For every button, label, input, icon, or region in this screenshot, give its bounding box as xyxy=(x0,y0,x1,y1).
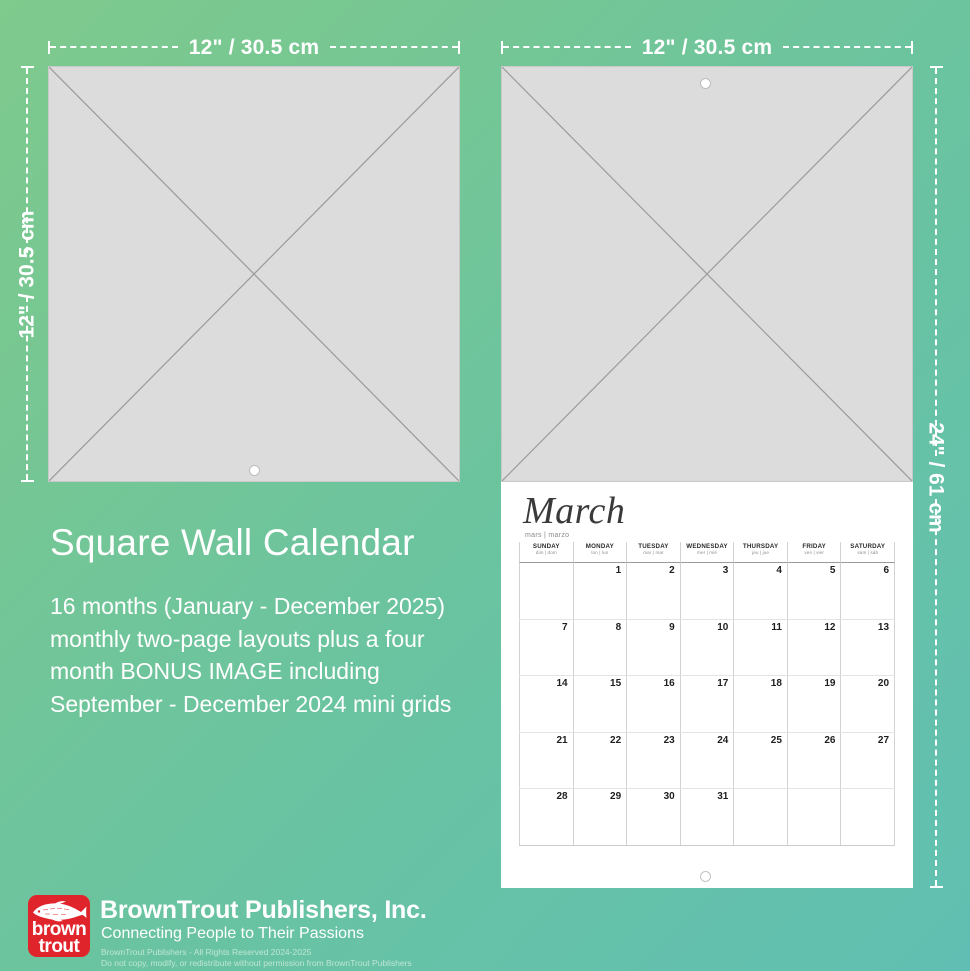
calendar-week-row: 1 2 3 4 5 6 xyxy=(519,563,895,620)
day-number: 23 xyxy=(664,735,675,746)
publisher-name: BrownTrout Publishers, Inc. xyxy=(100,898,427,923)
calendar-day-cell[interactable]: 26 xyxy=(787,733,841,789)
dimension-right-width-label: 12" / 30.5 cm xyxy=(631,37,783,58)
placeholder-cross-icon xyxy=(502,67,912,481)
calendar-day-cell[interactable]: 16 xyxy=(626,676,680,732)
day-number: 17 xyxy=(717,678,728,689)
dim-cap-end xyxy=(911,41,913,54)
day-number: 3 xyxy=(723,565,729,576)
weekday-sub: mar | mar xyxy=(627,551,680,556)
right-cover-image-placeholder xyxy=(501,66,913,482)
weekday-sub: ven | vier xyxy=(788,551,841,556)
calendar-week-row: 21 22 23 24 25 26 27 xyxy=(519,733,895,790)
calendar-day-cell[interactable]: 1 xyxy=(573,563,627,619)
calendar-day-cell[interactable]: 15 xyxy=(573,676,627,732)
dim-dash-right xyxy=(330,46,458,48)
dimension-left-height: 12" / 30.5 cm xyxy=(20,66,34,482)
weekday-sub: sam | sáb xyxy=(841,551,894,556)
day-number: 25 xyxy=(771,735,782,746)
calendar-month-title: March xyxy=(523,492,625,530)
calendar-day-cell[interactable]: 30 xyxy=(626,789,680,845)
placeholder-cross-icon xyxy=(49,67,459,481)
day-number: 24 xyxy=(717,735,728,746)
description-line-1: 16 months (January - December 2025) xyxy=(50,590,451,623)
calendar-day-cell[interactable]: 22 xyxy=(573,733,627,789)
calendar-page-bottom-hole-punch xyxy=(700,871,711,882)
calendar-day-cell[interactable]: 9 xyxy=(626,620,680,676)
weekday-header-saturday: SATURDAY sam | sáb xyxy=(840,542,895,563)
weekday-sub: dim | dom xyxy=(520,551,573,556)
dimension-right-width: 12" / 30.5 cm xyxy=(501,40,913,54)
calendar-day-cell[interactable]: 5 xyxy=(787,563,841,619)
calendar-day-cell[interactable]: 8 xyxy=(573,620,627,676)
calendar-day-cell[interactable]: 17 xyxy=(680,676,734,732)
calendar-week-row: 14 15 16 17 18 19 20 xyxy=(519,676,895,733)
weekday-header-wednesday: WEDNESDAY mer | mié xyxy=(680,542,734,563)
calendar-month-subtitle: mars | marzo xyxy=(525,532,569,539)
dim-dash-left xyxy=(503,46,631,48)
product-headline: Square Wall Calendar xyxy=(50,524,415,561)
calendar-day-cell[interactable]: 10 xyxy=(680,620,734,676)
calendar-day-cell[interactable]: 29 xyxy=(573,789,627,845)
calendar-week-row: 28 29 30 31 xyxy=(519,789,895,846)
weekday-header-tuesday: TUESDAY mar | mar xyxy=(626,542,680,563)
calendar-day-cell[interactable]: 24 xyxy=(680,733,734,789)
day-number: 6 xyxy=(883,565,889,576)
weekday-header-friday: FRIDAY ven | vier xyxy=(787,542,841,563)
calendar-day-cell[interactable]: 28 xyxy=(519,789,573,845)
day-number: 4 xyxy=(776,565,782,576)
weekday-header-sunday: SUNDAY dim | dom xyxy=(519,542,573,563)
calendar-day-cell[interactable]: 13 xyxy=(840,620,895,676)
day-number: 7 xyxy=(562,622,568,633)
calendar-day-cell[interactable]: 20 xyxy=(840,676,895,732)
calendar-day-cell[interactable]: 4 xyxy=(733,563,787,619)
dimension-right-height-label: 24" / 61 cm xyxy=(915,422,958,532)
calendar-day-cell[interactable]: 7 xyxy=(519,620,573,676)
description-line-3: month BONUS IMAGE including xyxy=(50,655,451,688)
calendar-day-cell[interactable]: 21 xyxy=(519,733,573,789)
day-number: 29 xyxy=(610,791,621,802)
calendar-grid-page: March mars | marzo SUNDAY dim | dom MOND… xyxy=(501,482,913,888)
footer-branding: brown trout BrownTrout Publishers, Inc. … xyxy=(0,895,970,971)
weekday-sub: jeu | jue xyxy=(734,551,787,556)
calendar-day-cell[interactable]: 18 xyxy=(733,676,787,732)
calendar-day-cell[interactable]: 19 xyxy=(787,676,841,732)
day-number: 13 xyxy=(878,622,889,633)
dim-dash-top xyxy=(935,68,937,456)
weekday-sub: mer | mié xyxy=(681,551,734,556)
day-number: 18 xyxy=(771,678,782,689)
calendar-day-cell[interactable]: 31 xyxy=(680,789,734,845)
dimension-right-height: 24" / 61 cm xyxy=(929,66,943,888)
calendar-day-cell[interactable]: 2 xyxy=(626,563,680,619)
day-number: 15 xyxy=(610,678,621,689)
calendar-day-cell[interactable] xyxy=(733,789,787,845)
product-spec-sheet: 12" / 30.5 cm 12" / 30.5 cm 12" / 30.5 c… xyxy=(0,0,970,971)
left-cover-image-placeholder xyxy=(48,66,460,482)
calendar-day-cell[interactable] xyxy=(787,789,841,845)
dim-cap-bottom xyxy=(930,886,943,888)
day-number: 1 xyxy=(616,565,622,576)
day-number: 19 xyxy=(824,678,835,689)
dim-cap-bottom xyxy=(21,480,34,482)
calendar-weeks: 1 2 3 4 5 6 7 8 9 10 11 12 13 14 xyxy=(519,563,895,846)
copyright-line-2: Do not copy, modify, or redistribute wit… xyxy=(101,958,412,969)
calendar-day-cell[interactable]: 6 xyxy=(840,563,895,619)
day-number: 16 xyxy=(664,678,675,689)
weekday-sub: lun | lun xyxy=(574,551,627,556)
dimension-left-height-label: 12" / 30.5 cm xyxy=(6,210,49,338)
dimension-left-width: 12" / 30.5 cm xyxy=(48,40,460,54)
calendar-day-cell[interactable]: 12 xyxy=(787,620,841,676)
browntrout-logo[interactable]: brown trout xyxy=(28,895,90,957)
calendar-day-cell[interactable]: 27 xyxy=(840,733,895,789)
day-number: 30 xyxy=(664,791,675,802)
calendar-week-row: 7 8 9 10 11 12 13 xyxy=(519,620,895,677)
day-number: 5 xyxy=(830,565,836,576)
day-number: 28 xyxy=(556,791,567,802)
day-number: 8 xyxy=(616,622,622,633)
day-number: 11 xyxy=(771,622,782,633)
calendar-grid: SUNDAY dim | dom MONDAY lun | lun TUESDA… xyxy=(519,542,895,846)
day-number: 20 xyxy=(878,678,889,689)
calendar-day-cell[interactable]: 25 xyxy=(733,733,787,789)
day-number: 9 xyxy=(669,622,675,633)
weekday-header-monday: MONDAY lun | lun xyxy=(573,542,627,563)
day-number: 21 xyxy=(556,735,567,746)
day-number: 26 xyxy=(824,735,835,746)
right-panel-top-hole-punch xyxy=(700,78,711,89)
dim-dash-bottom xyxy=(935,499,937,887)
calendar-weekday-header: SUNDAY dim | dom MONDAY lun | lun TUESDA… xyxy=(519,542,895,563)
weekday-header-thursday: THURSDAY jeu | jue xyxy=(733,542,787,563)
left-panel-hole-punch xyxy=(249,465,260,476)
dim-dash-right xyxy=(783,46,911,48)
calendar-day-cell[interactable] xyxy=(840,789,895,845)
dimension-left-width-label: 12" / 30.5 cm xyxy=(178,37,330,58)
description-line-4: September - December 2024 mini grids xyxy=(50,688,451,721)
description-line-2: monthly two-page layouts plus a four xyxy=(50,623,451,656)
copyright-notice: BrownTrout Publishers - All Rights Reser… xyxy=(101,947,412,969)
dim-cap-end xyxy=(458,41,460,54)
publisher-tagline: Connecting People to Their Passions xyxy=(101,926,364,942)
calendar-day-cell[interactable] xyxy=(519,563,573,619)
day-number: 27 xyxy=(878,735,889,746)
day-number: 14 xyxy=(556,678,567,689)
dim-dash-left xyxy=(50,46,178,48)
day-number: 2 xyxy=(669,565,675,576)
day-number: 22 xyxy=(610,735,621,746)
calendar-day-cell[interactable]: 3 xyxy=(680,563,734,619)
day-number: 31 xyxy=(717,791,728,802)
copyright-line-1: BrownTrout Publishers - All Rights Reser… xyxy=(101,947,412,958)
day-number: 10 xyxy=(717,622,728,633)
logo-word-trout: trout xyxy=(28,938,90,956)
calendar-day-cell[interactable]: 14 xyxy=(519,676,573,732)
calendar-day-cell[interactable]: 23 xyxy=(626,733,680,789)
day-number: 12 xyxy=(824,622,835,633)
product-description: 16 months (January - December 2025) mont… xyxy=(50,590,451,721)
calendar-day-cell[interactable]: 11 xyxy=(733,620,787,676)
